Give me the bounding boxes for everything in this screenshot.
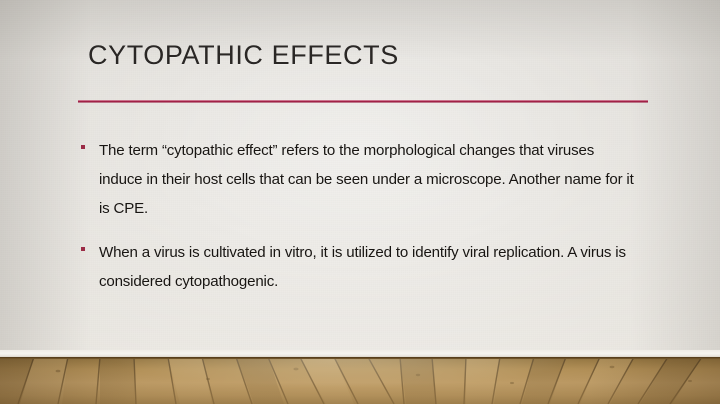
slide-body: The term “cytopathic effect” refers to t… (78, 136, 638, 311)
bullet-item: When a virus is cultivated in vitro, it … (78, 238, 638, 296)
title-underline-rule (78, 100, 648, 103)
bullet-item-text: The term “cytopathic effect” refers to t… (99, 142, 634, 217)
square-bullet-icon (81, 247, 85, 251)
wooden-floor (0, 357, 720, 404)
floor-edge-shadow (0, 357, 720, 359)
floor-plank-seams (0, 357, 720, 404)
bullet-item: The term “cytopathic effect” refers to t… (78, 136, 638, 223)
presentation-slide: CYTOPATHIC EFFECTS The term “cytopathic … (0, 0, 720, 404)
square-bullet-icon (81, 145, 85, 149)
slide-title: CYTOPATHIC EFFECTS (88, 40, 399, 71)
bullet-item-text: When a virus is cultivated in vitro, it … (99, 244, 626, 290)
